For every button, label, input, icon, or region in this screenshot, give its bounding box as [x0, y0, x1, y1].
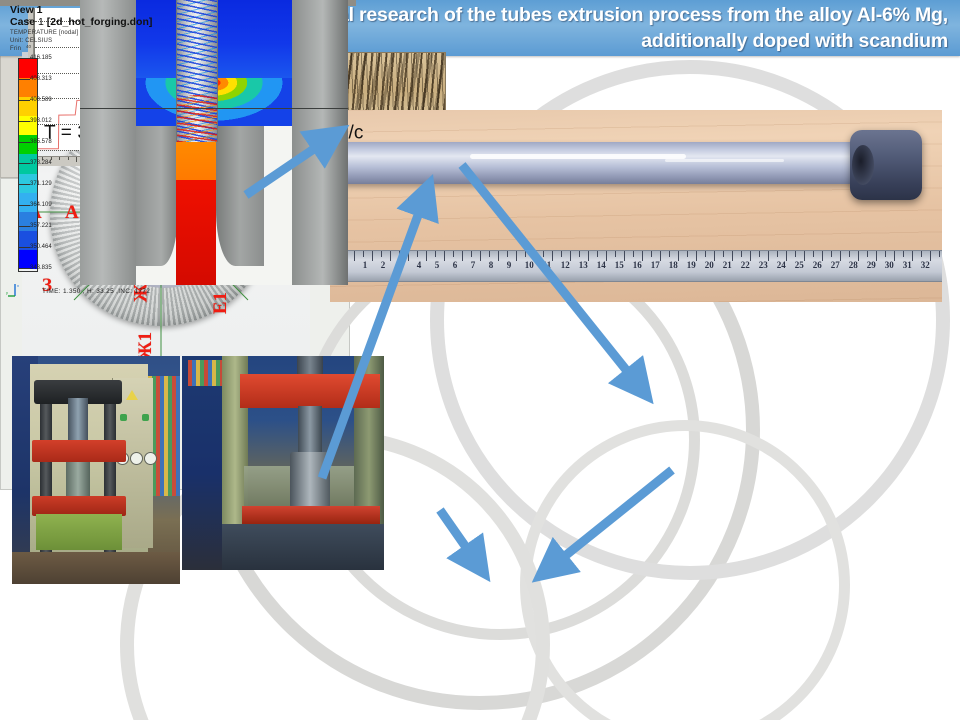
- ruler-number: 12: [561, 260, 570, 270]
- ruler-tick: [543, 251, 544, 257]
- ruler-tick: [831, 251, 832, 257]
- ruler-tick: [849, 251, 850, 257]
- ruler-tick: [714, 251, 715, 261]
- fem-scale-value: 393.012: [30, 118, 52, 124]
- ruler-tick: [525, 251, 526, 257]
- ruler-tick: [642, 251, 643, 261]
- fem-die-right: [292, 0, 348, 285]
- pressA-lower-beam: [32, 496, 126, 516]
- fem-scale-dash: [18, 100, 30, 101]
- fem-status-bar: TIME: 1.350 , H: 33.25 ,INC: 1772: [42, 288, 150, 295]
- ruler-tick: [885, 251, 886, 257]
- fem-scale-value: 408.313: [30, 76, 52, 82]
- ruler-tick: [498, 251, 499, 261]
- ruler-tick: [372, 251, 373, 261]
- ruler-tick: [840, 251, 841, 261]
- ruler-number: 25: [795, 260, 804, 270]
- ruler-tick: [615, 251, 616, 257]
- pressB-upper-platen: [240, 374, 380, 408]
- ruler-number: 24: [777, 260, 786, 270]
- fem-scale-value: 350.464: [30, 244, 52, 250]
- fem-mesh-lines-hot: [177, 95, 217, 142]
- pressA-gauge-3: [144, 452, 157, 465]
- ruler-tick: [858, 251, 859, 261]
- ruler-tick: [480, 251, 481, 261]
- ruler-number: 10: [525, 260, 534, 270]
- hydraulic-press-photo-closeup: [182, 356, 384, 570]
- fem-scale-dash: [18, 205, 30, 206]
- fem-scale-value: 357.221: [30, 223, 52, 229]
- ruler-tick: [624, 251, 625, 261]
- ruler-tick: [354, 251, 355, 261]
- ruler-tick: [579, 251, 580, 257]
- ruler-tick: [732, 251, 733, 261]
- ruler-tick: [822, 251, 823, 261]
- ruler-number: 1: [363, 260, 368, 270]
- fem-scale-value: 416.185: [30, 55, 52, 61]
- ruler-number: 19: [687, 260, 696, 270]
- fem-scale-dash: [18, 142, 30, 143]
- pressB-lower-platen: [242, 506, 380, 524]
- ruler-tick: [705, 251, 706, 257]
- ruler-number: 27: [831, 260, 840, 270]
- ruler-tick: [453, 251, 454, 257]
- ruler-tick: [768, 251, 769, 261]
- ruler-number: 11: [543, 260, 552, 270]
- ruler-tick: [489, 251, 490, 257]
- ruler-number: 26: [813, 260, 822, 270]
- ruler-tick: [777, 251, 778, 257]
- ruler-number: 5: [435, 260, 440, 270]
- tube-highlight-2: [665, 159, 784, 162]
- ruler-tick: [588, 251, 589, 261]
- fem-legend: View 1 Case 1 [2d_hot_forging.don] TEMPE…: [6, 4, 82, 284]
- ruler-tick: [723, 251, 724, 257]
- die-bore: [852, 145, 874, 185]
- fem-case-label: Case: [10, 16, 35, 28]
- fem-view-number: 1: [37, 4, 43, 16]
- ruler-tick: [561, 251, 562, 257]
- ruler-tick: [570, 251, 571, 261]
- ruler-tick: [597, 251, 598, 257]
- ruler-tick: [444, 251, 445, 261]
- ruler-tick: [939, 251, 940, 257]
- ruler-number: 22: [741, 260, 750, 270]
- pressA-gauge-2: [130, 452, 143, 465]
- fem-section-line: [80, 108, 348, 109]
- ruler-number: 16: [633, 260, 642, 270]
- ruler-number: 7: [471, 260, 476, 270]
- fem-scale-value: 343.835: [30, 265, 52, 271]
- ruler-tick: [912, 251, 913, 261]
- fem-billet-transition: [176, 142, 216, 180]
- ruler-tick: [750, 251, 751, 261]
- pressB-punch-shaft: [298, 406, 322, 458]
- fem-scale-dash: [18, 79, 30, 80]
- ruler-tick: [534, 251, 535, 261]
- ruler-tick: [390, 251, 391, 261]
- pressA-floor: [12, 552, 180, 584]
- fem-scale-value: 400.589: [30, 97, 52, 103]
- fem-scale-dash: [18, 163, 30, 164]
- ruler-tick: [921, 251, 922, 257]
- die-remnant: [850, 130, 922, 200]
- svg-text:y: y: [6, 290, 8, 295]
- ruler-number: 4: [417, 260, 422, 270]
- fem-extruded-tube-mesh: [176, 0, 218, 142]
- fem-scale-value: 364.109: [30, 202, 52, 208]
- ruler-number: 17: [651, 260, 660, 270]
- ruler-tick: [804, 251, 805, 261]
- ruler-number: 9: [507, 260, 512, 270]
- pressA-button-green-2: [142, 414, 149, 421]
- ruler-number: 15: [615, 260, 624, 270]
- pressA-ram: [68, 398, 88, 442]
- fem-container-left: [136, 126, 178, 266]
- fem-scale-dash: [18, 184, 30, 185]
- fem-scale-dash: [18, 121, 30, 122]
- ruler-number: 29: [867, 260, 876, 270]
- fem-scale-value: 385.578: [30, 139, 52, 145]
- warning-triangle-icon: [126, 390, 138, 400]
- pressB-stripes: [188, 360, 222, 386]
- tube-highlight: [470, 154, 686, 159]
- ruler-number: 30: [885, 260, 894, 270]
- ruler-number: 6: [453, 260, 458, 270]
- ruler-number: 20: [705, 260, 714, 270]
- ruler-tick: [408, 251, 409, 261]
- ruler-tick: [552, 251, 553, 261]
- ruler-number: 31: [903, 260, 912, 270]
- fem-axis-triad-icon: y x: [6, 282, 26, 298]
- fem-scale-dash: [18, 268, 30, 269]
- ruler-tick: [876, 251, 877, 261]
- ruler-tick: [435, 251, 436, 257]
- hydraulic-press-photo-full: [12, 356, 180, 584]
- fem-billet-hot: [176, 180, 216, 285]
- ruler-tick: [462, 251, 463, 261]
- ruler-tick: [471, 251, 472, 257]
- ruler-tick: [660, 251, 661, 261]
- fem-die-left: [80, 0, 136, 285]
- ruler-tick: [507, 251, 508, 257]
- fem-scale-value: 371.129: [30, 181, 52, 187]
- svg-text:x: x: [17, 283, 19, 288]
- extruded-tube-photo: 1234567891011121314151617181920212223242…: [330, 110, 942, 302]
- ruler-number: 32: [921, 260, 930, 270]
- ruler-number: 21: [723, 260, 732, 270]
- fem-viewport: [80, 0, 348, 285]
- ruler-tick: [930, 251, 931, 261]
- fem-view-label: View: [10, 4, 34, 16]
- ruler-tick: [669, 251, 670, 257]
- ruler-tick: [678, 251, 679, 261]
- pressB-floor: [222, 524, 384, 570]
- ruler-number: 23: [759, 260, 768, 270]
- ruler-number: 3: [399, 260, 404, 270]
- ruler-tick: [399, 251, 400, 257]
- ruler-tick: [903, 251, 904, 257]
- ruler-number: 8: [489, 260, 494, 270]
- ruler-tick: [363, 251, 364, 257]
- ruler-number: 2: [381, 260, 386, 270]
- ruler-number: 28: [849, 260, 858, 270]
- extruded-tube: [330, 142, 870, 184]
- fem-case-number: 1: [38, 16, 44, 28]
- ruler-tick: [867, 251, 868, 257]
- ruler-tick: [606, 251, 607, 261]
- ruler-tick: [381, 251, 382, 257]
- pressA-table: [36, 514, 122, 550]
- ruler-number: 13: [579, 260, 588, 270]
- ruler-tick: [651, 251, 652, 257]
- pressA-upper-beam: [32, 440, 126, 462]
- slide-canvas: Experimental and theoretical research of…: [0, 0, 960, 720]
- xsec-label-11: Е1: [210, 292, 232, 314]
- fem-scale-value: 378.284: [30, 160, 52, 166]
- ruler-tick: [894, 251, 895, 261]
- fem-case-file: [2d_hot_forging.don]: [47, 16, 153, 28]
- fem-unit-label: Unit: CELSIUS: [10, 38, 52, 44]
- fem-scale-dash: [18, 226, 30, 227]
- fem-scale-dash: [18, 58, 30, 59]
- ruler-tick: [417, 251, 418, 257]
- fem-container-right: [216, 126, 264, 266]
- ruler-tick: [813, 251, 814, 257]
- pressB-die-block: [290, 452, 330, 508]
- ruler-tick: [786, 251, 787, 261]
- ruler-tick: [633, 251, 634, 257]
- fem-frin-label: Frin: [10, 46, 21, 52]
- ruler-number: 18: [669, 260, 678, 270]
- pressA-die: [66, 462, 90, 498]
- ruler-tick: [795, 251, 796, 257]
- ruler-tick: [696, 251, 697, 261]
- pressA-button-green: [120, 414, 127, 421]
- ruler-number: 14: [597, 260, 606, 270]
- ruler-tick: [516, 251, 517, 261]
- measuring-ruler: 1234567891011121314151617181920212223242…: [348, 250, 942, 282]
- ruler-tick: [741, 251, 742, 257]
- fem-scale-dash: [18, 247, 30, 248]
- fem-field-label: TEMPERATURE [nodal]: [10, 30, 78, 36]
- ruler-tick: [759, 251, 760, 257]
- ruler-tick: [687, 251, 688, 257]
- ruler-tick: [426, 251, 427, 261]
